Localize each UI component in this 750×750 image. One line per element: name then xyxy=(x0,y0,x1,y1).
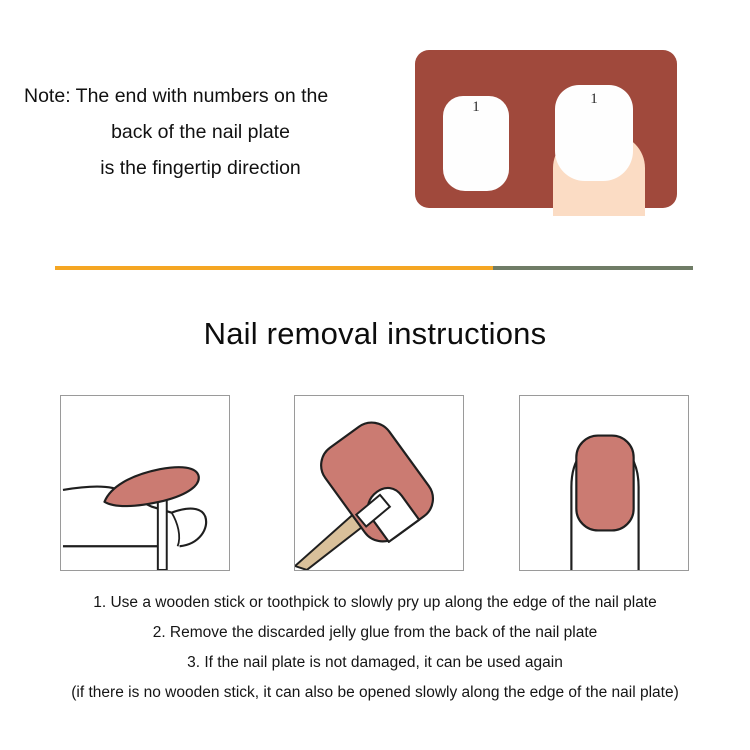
page-title: Nail removal instructions xyxy=(0,316,750,352)
instruction-line-1: 1. Use a wooden stick or toothpick to sl… xyxy=(0,588,750,618)
instruction-line-2: 2. Remove the discarded jelly glue from … xyxy=(0,618,750,648)
nail-plate-left-number: 1 xyxy=(472,100,480,191)
instruction-line-3: 3. If the nail plate is not damaged, it … xyxy=(0,648,750,678)
note-section: Note: The end with numbers on the back o… xyxy=(0,0,750,255)
note-line-3: is the fingertip direction xyxy=(18,150,383,186)
divider-segment-orange xyxy=(55,266,493,270)
reusable-nail-plate-illustration xyxy=(519,395,689,571)
nail-plate-right-number: 1 xyxy=(590,92,598,181)
section-divider xyxy=(55,266,693,270)
instruction-note: (if there is no wooden stick, it can als… xyxy=(0,678,750,708)
note-text: Note: The end with numbers on the back o… xyxy=(18,78,383,186)
note-line-2: back of the nail plate xyxy=(18,114,383,150)
instruction-list: 1. Use a wooden stick or toothpick to sl… xyxy=(0,588,750,708)
note-line-1: Note: The end with numbers on the xyxy=(18,78,383,114)
pry-up-nail-edge-illustration xyxy=(60,395,230,571)
nail-plate-card-figure: 1 1 xyxy=(415,50,677,216)
illustration-row xyxy=(0,395,750,571)
divider-segment-green xyxy=(493,266,693,270)
remove-jelly-glue-illustration xyxy=(294,395,464,571)
nail-plate-left: 1 xyxy=(443,96,509,191)
nail-plate-right: 1 xyxy=(555,85,633,181)
